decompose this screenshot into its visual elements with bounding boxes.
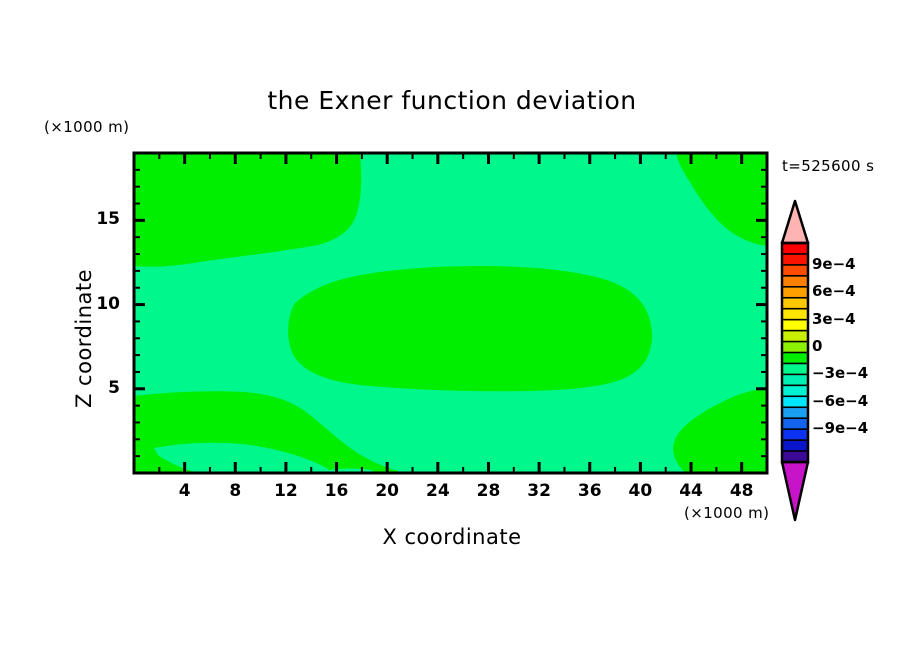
colorbar-band bbox=[782, 342, 808, 353]
colorbar-band bbox=[782, 451, 808, 462]
colorbar-label: −6e−4 bbox=[812, 392, 868, 410]
colorbar-band bbox=[782, 265, 808, 276]
x-tick-label: 40 bbox=[620, 481, 660, 501]
colorbar-label: 9e−4 bbox=[812, 255, 856, 273]
colorbar-band bbox=[782, 385, 808, 396]
x-tick-label: 16 bbox=[317, 481, 357, 501]
colorbar-band bbox=[782, 407, 808, 418]
colorbar-label: −9e−4 bbox=[812, 419, 868, 437]
colorbar-band bbox=[782, 363, 808, 374]
colorbar-band bbox=[782, 309, 808, 320]
colorbar-cap-bottom-arrow bbox=[782, 462, 808, 520]
figure-canvas: the Exner function deviation (×1000 m) t… bbox=[0, 0, 904, 654]
colorbar-band bbox=[782, 287, 808, 298]
colorbar-band bbox=[782, 418, 808, 429]
colorbar-label: −3e−4 bbox=[812, 364, 868, 382]
x-tick-label: 20 bbox=[367, 481, 407, 501]
colorbar-band bbox=[782, 298, 808, 309]
x-tick-label: 44 bbox=[671, 481, 711, 501]
x-tick-label: 12 bbox=[266, 481, 306, 501]
colorbar-band bbox=[782, 276, 808, 287]
colorbar-band bbox=[782, 243, 808, 254]
colorbar-band bbox=[782, 254, 808, 265]
colorbar-band bbox=[782, 374, 808, 385]
y-tick-label: 15 bbox=[84, 209, 120, 229]
colorbar-band bbox=[782, 396, 808, 407]
colorbar-band bbox=[782, 440, 808, 451]
colorbar-label: 6e−4 bbox=[812, 282, 856, 300]
contour-field bbox=[134, 153, 767, 473]
x-tick-label: 8 bbox=[215, 481, 255, 501]
x-tick-label: 36 bbox=[570, 481, 610, 501]
x-tick-label: 28 bbox=[468, 481, 508, 501]
colorbar bbox=[782, 201, 808, 520]
colorbar-bands bbox=[782, 243, 808, 462]
y-tick-label: 5 bbox=[84, 378, 120, 398]
x-tick-label: 4 bbox=[165, 481, 205, 501]
plot-svg bbox=[0, 0, 904, 654]
colorbar-cap-top-arrow bbox=[782, 201, 808, 243]
colorbar-band bbox=[782, 320, 808, 331]
contour-region-central-lens bbox=[288, 266, 652, 391]
colorbar-label: 3e−4 bbox=[812, 310, 856, 328]
x-tick-label: 24 bbox=[418, 481, 458, 501]
y-tick-label: 10 bbox=[84, 294, 120, 314]
colorbar-label: 0 bbox=[812, 337, 822, 355]
colorbar-band bbox=[782, 331, 808, 342]
x-tick-label: 48 bbox=[722, 481, 762, 501]
colorbar-band bbox=[782, 429, 808, 440]
colorbar-band bbox=[782, 353, 808, 364]
x-tick-label: 32 bbox=[519, 481, 559, 501]
